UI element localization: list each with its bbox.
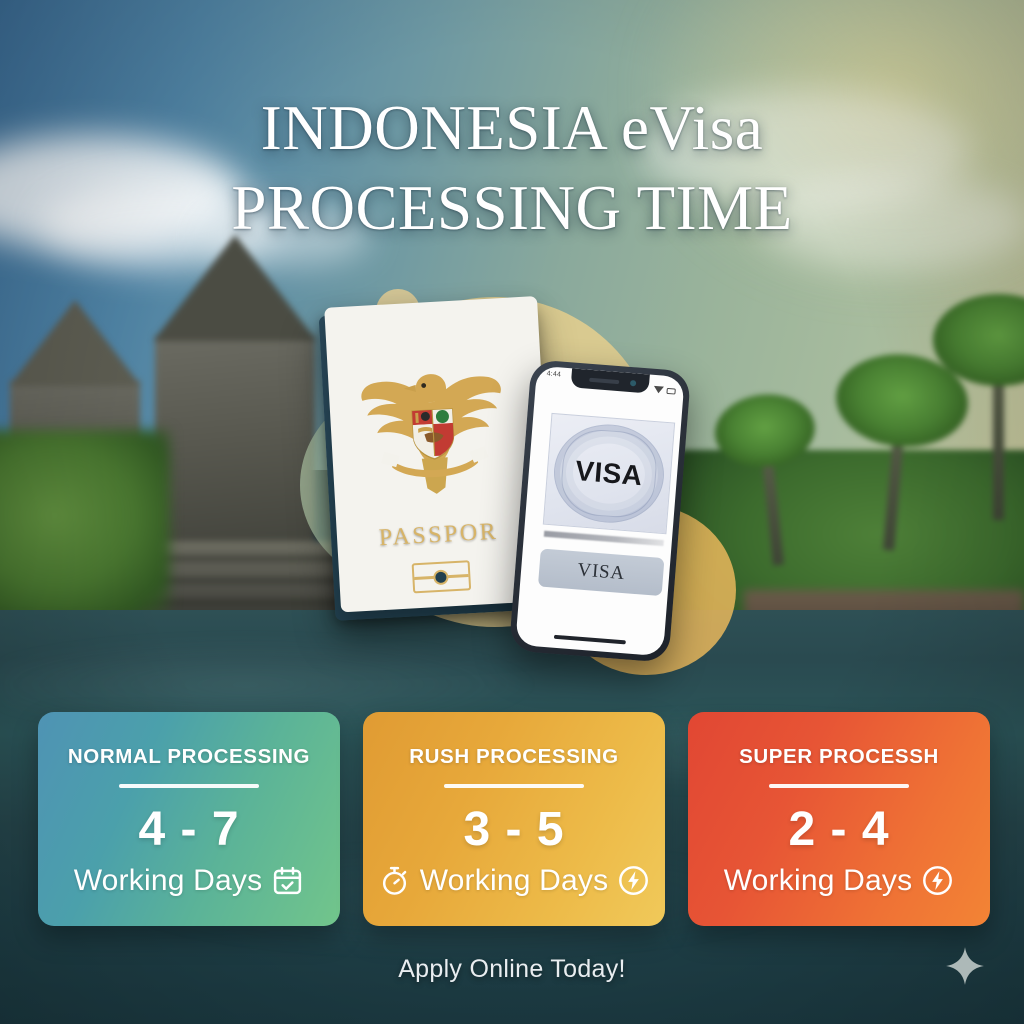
visa-document-image: VISA [543, 413, 675, 534]
page-title: INDONESIA eVisa PROCESSING TIME [0, 88, 1024, 248]
processing-card-rush[interactable]: RUSH PROCESSING 3 - 5 Working Days [363, 712, 665, 926]
phone-notch [571, 368, 650, 393]
poster-canvas: INDONESIA eVisa PROCESSING TIME [0, 0, 1024, 1024]
card-divider [444, 784, 584, 788]
card-title: SUPER PROCESSH [739, 745, 939, 769]
title-line-2: PROCESSING TIME [0, 168, 1024, 248]
garuda-pancasila-icon [354, 362, 511, 503]
card-unit-label: Working Days [74, 864, 263, 898]
card-unit-label: Working Days [420, 864, 609, 898]
processing-options-row: NORMAL PROCESSING 4 - 7 Working Days RUS… [38, 712, 990, 926]
card-range: 2 - 4 [788, 806, 889, 854]
card-divider [769, 784, 909, 788]
visa-caption-line [544, 531, 664, 546]
home-indicator [554, 635, 626, 645]
biometric-chip-icon [411, 560, 471, 593]
card-unit-row: Working Days [363, 864, 665, 898]
wifi-icon [653, 386, 664, 394]
hero-graphic: PASSPOR 4:44 VISA [0, 275, 1024, 675]
card-unit-label: Working Days [724, 864, 913, 898]
battery-icon [666, 387, 675, 394]
status-bar-time: 4:44 [546, 370, 561, 378]
phone-illustration: 4:44 VISA VISA [509, 359, 691, 663]
status-bar-icons [653, 386, 675, 395]
card-divider [119, 784, 259, 788]
lightning-bolt-circle-icon [617, 864, 650, 897]
visa-button[interactable]: VISA [538, 548, 665, 596]
title-line-1: INDONESIA eVisa [0, 88, 1024, 168]
card-title: RUSH PROCESSING [409, 745, 618, 769]
earpiece-icon [589, 378, 619, 384]
card-range: 4 - 7 [138, 806, 239, 854]
stopwatch-icon [378, 864, 411, 897]
cta-text[interactable]: Apply Online Today! [398, 955, 626, 983]
visa-button-label: VISA [577, 559, 626, 585]
phone-screen: 4:44 VISA VISA [515, 366, 685, 657]
calendar-check-icon [271, 864, 304, 897]
footer: Apply Online Today! [0, 955, 1024, 984]
card-unit-row: Working Days [38, 864, 340, 898]
lightning-bolt-circle-icon [921, 864, 954, 897]
card-unit-row: Working Days [688, 864, 990, 898]
card-title: NORMAL PROCESSING [68, 745, 310, 769]
card-range: 3 - 5 [463, 806, 564, 854]
processing-card-super[interactable]: SUPER PROCESSH 2 - 4 Working Days [688, 712, 990, 926]
sparkle-star-icon [944, 945, 986, 987]
visa-document-text: VISA [574, 455, 644, 492]
front-camera-icon [630, 380, 636, 386]
processing-card-normal[interactable]: NORMAL PROCESSING 4 - 7 Working Days [38, 712, 340, 926]
